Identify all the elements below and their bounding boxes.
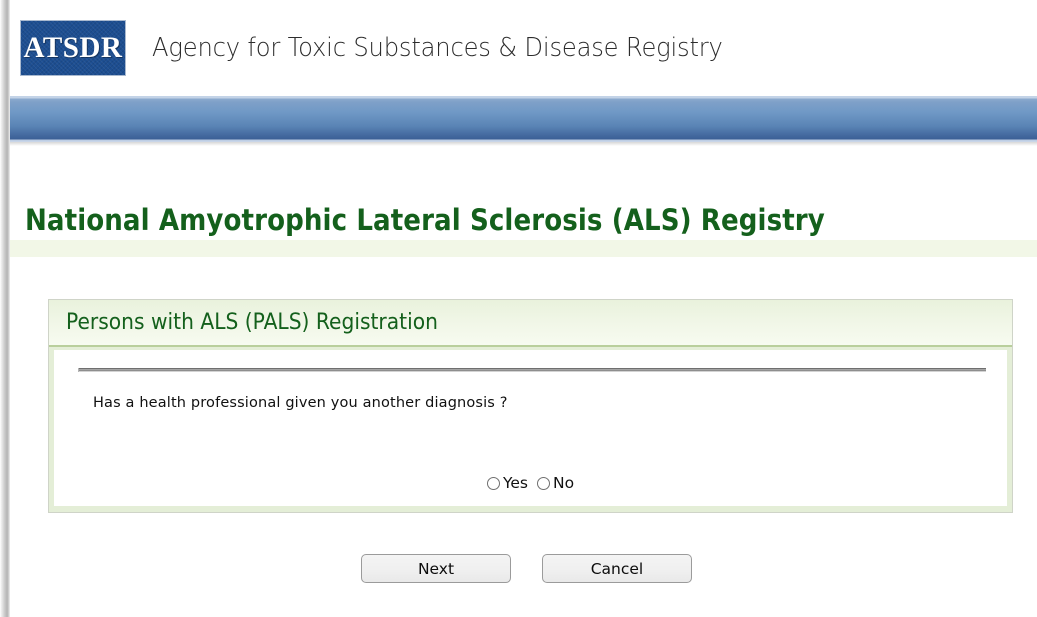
panel-header: Persons with ALS (PALS) Registration [49,300,1012,347]
site-masthead: ATSDR Agency for Toxic Substances & Dise… [10,0,1037,96]
page-left-gutter [0,0,10,617]
radio-label-no: No [553,474,574,492]
radio-label-yes: Yes [503,474,528,492]
question-label: Has a health professional given you anot… [93,395,508,411]
page-frame: ATSDR Agency for Toxic Substances & Dise… [0,0,1037,617]
next-button[interactable]: Next [361,554,511,583]
atsdr-logo-icon[interactable]: ATSDR [20,20,126,76]
radio-option-yes[interactable]: Yes [487,474,528,492]
panel-divider-rule [78,368,986,372]
answer-options-row: Yes No [54,474,1007,492]
radio-circle-yes[interactable] [487,477,500,490]
nav-band-wrap [10,96,1037,146]
nav-band-shadow [10,142,1037,146]
cancel-button[interactable]: Cancel [542,554,692,583]
atsdr-logo-text: ATSDR [24,33,123,63]
page-title: National Amyotrophic Lateral Sclerosis (… [25,203,825,237]
registration-panel: Persons with ALS (PALS) Registration Has… [48,299,1013,513]
agency-name-heading: Agency for Toxic Substances & Disease Re… [152,33,723,63]
form-actions: Next Cancel [10,554,1037,583]
nav-band [10,96,1037,142]
panel-title: Persons with ALS (PALS) Registration [66,310,438,335]
accent-divider-band [10,240,1037,257]
panel-body: Has a health professional given you anot… [54,350,1007,506]
radio-circle-no[interactable] [537,477,550,490]
radio-option-no[interactable]: No [537,474,574,492]
page-body: ATSDR Agency for Toxic Substances & Dise… [10,0,1037,617]
